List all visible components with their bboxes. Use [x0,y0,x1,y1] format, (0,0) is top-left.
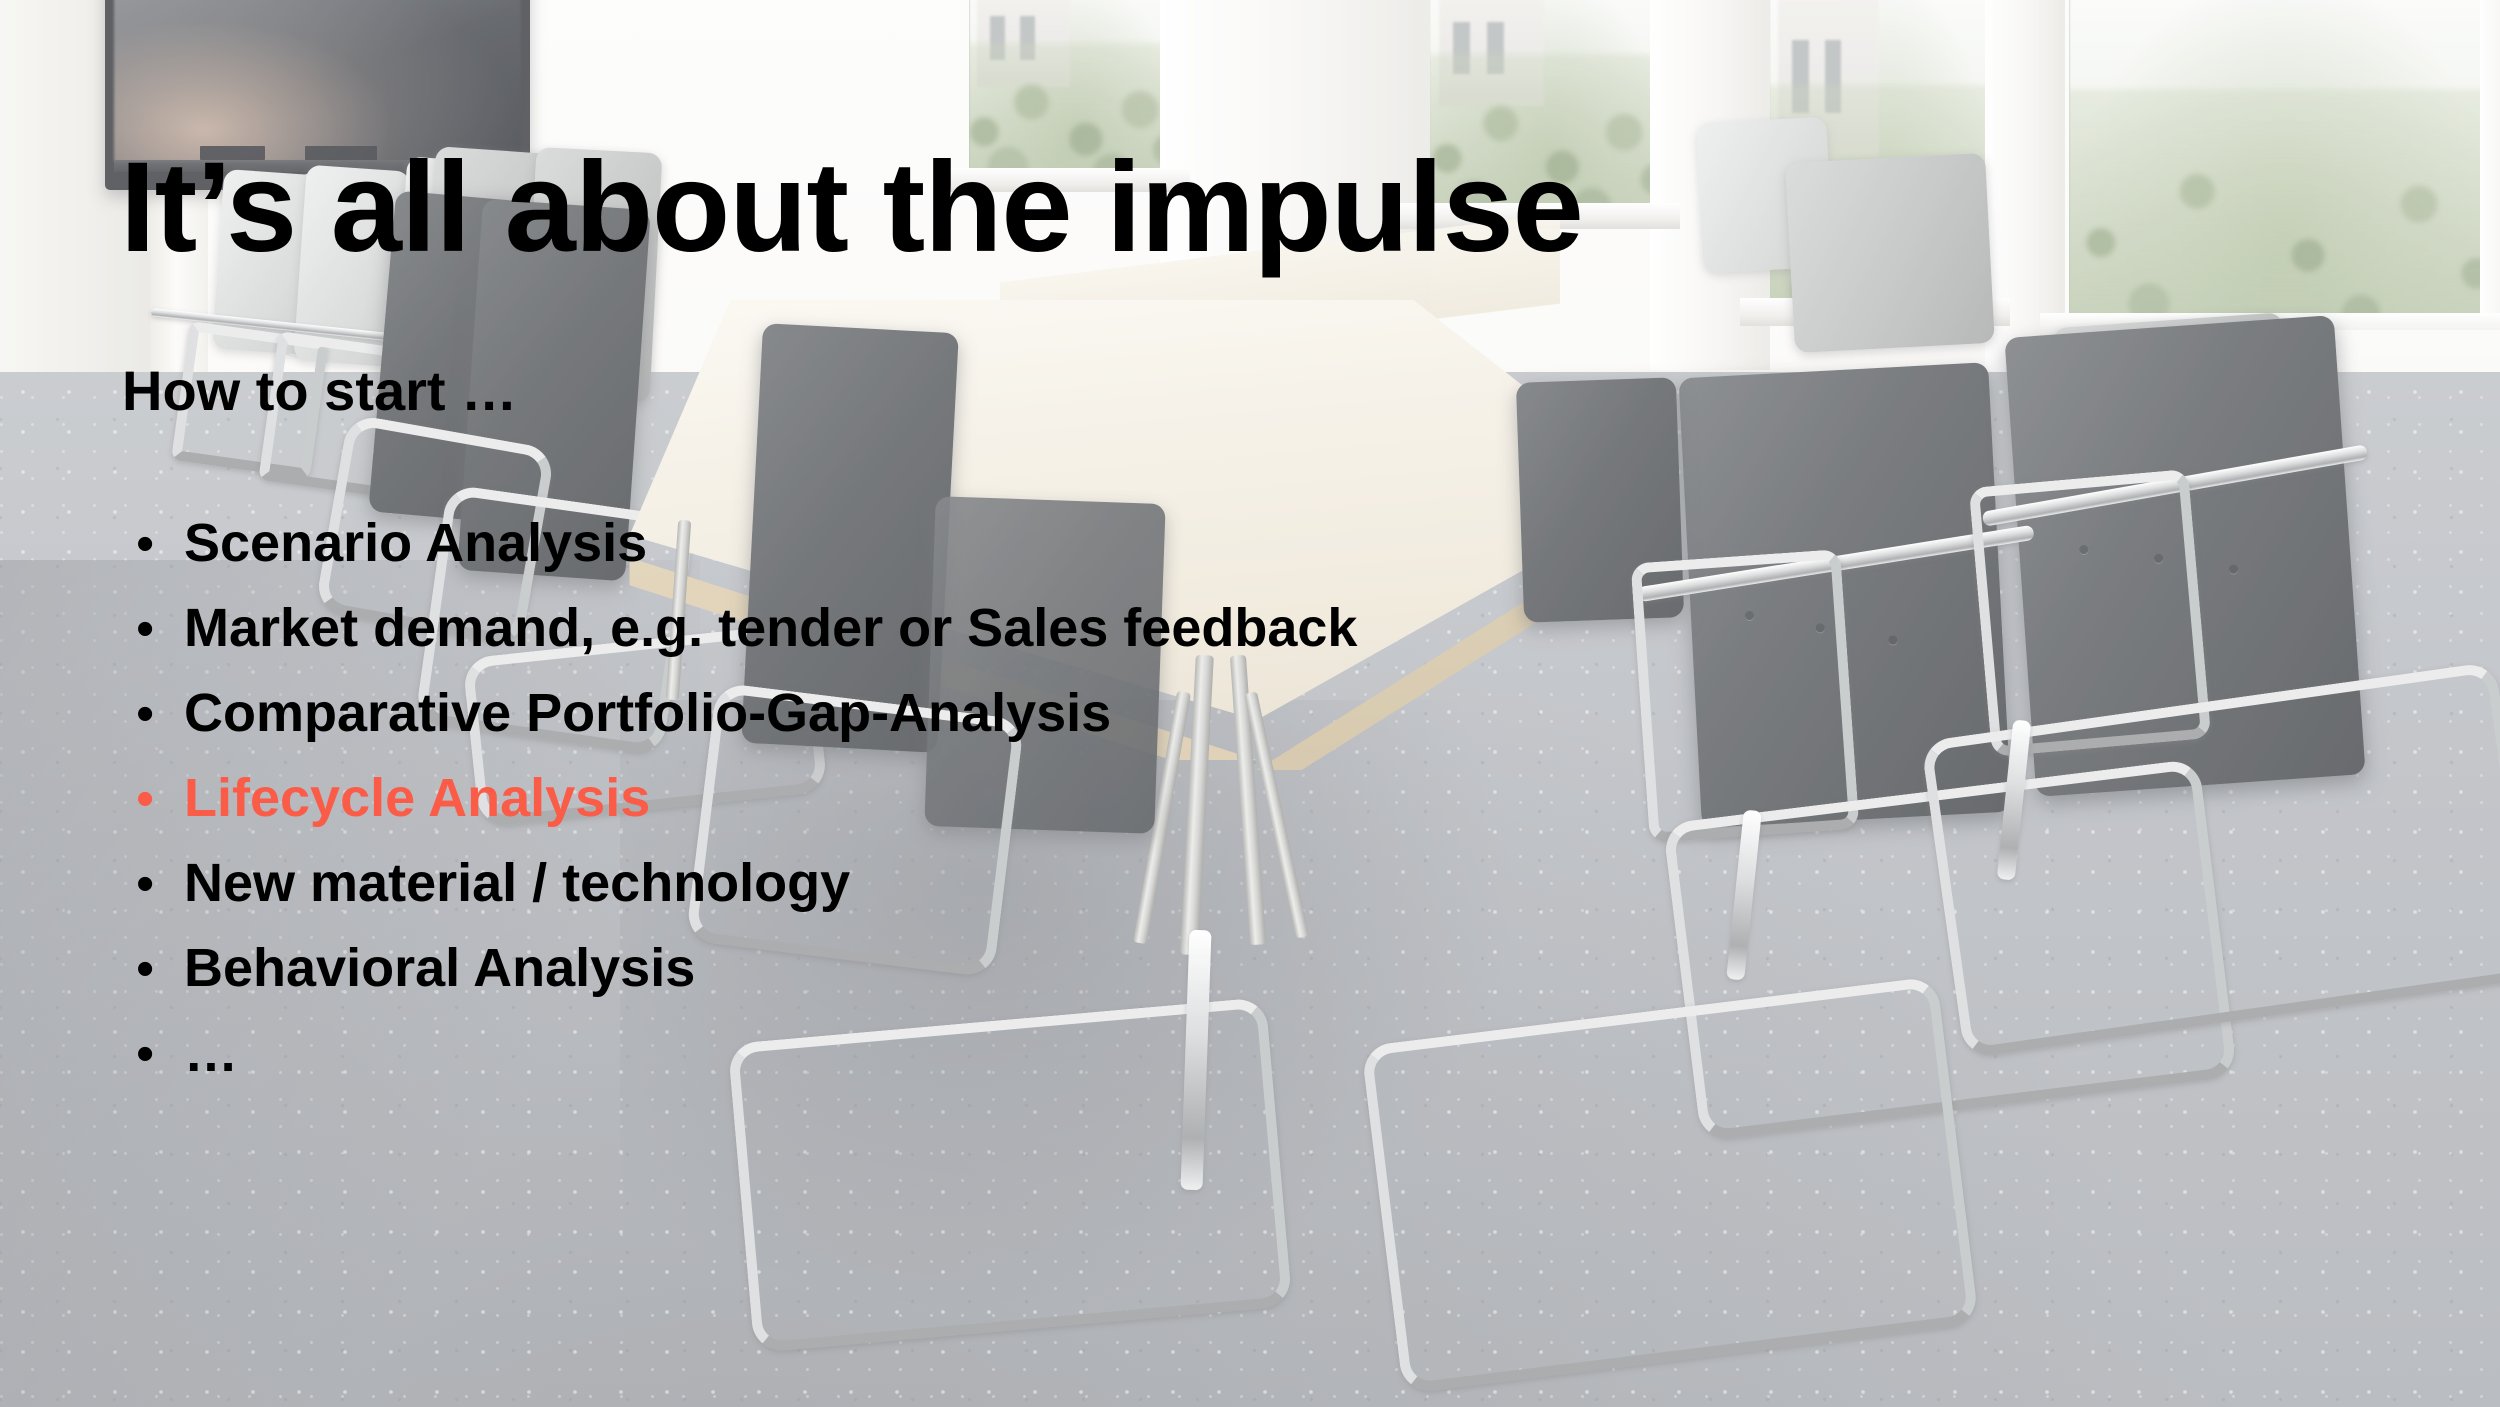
bullet-marker-icon: • [122,518,184,570]
bullet-marker-icon: • [122,773,184,825]
list-item: • Scenario Analysis [122,512,2222,597]
slide-content: It’s all about the impulse How to start … [0,0,2500,1407]
presentation-slide: It’s all about the impulse How to start … [0,0,2500,1407]
bullet-marker-icon: • [122,1028,184,1080]
list-item: • Behavioral Analysis [122,937,2222,1022]
bullet-marker-icon: • [122,858,184,910]
bullet-marker-icon: • [122,603,184,655]
list-item: • Comparative Portfolio-Gap-Analysis [122,682,2222,767]
bullet-marker-icon: • [122,943,184,995]
bullet-list: • Scenario Analysis • Market demand, e.g… [122,512,2222,1107]
list-item: • New material / technology [122,852,2222,937]
bullet-text: Scenario Analysis [184,512,647,574]
list-item-highlighted: • Lifecycle Analysis [122,767,2222,852]
bullet-text: Behavioral Analysis [184,937,695,999]
bullet-text: Market demand, e.g. tender or Sales feed… [184,597,1357,659]
list-item: • … [122,1022,2222,1107]
slide-title: It’s all about the impulse [120,144,1583,272]
slide-subtitle: How to start … [122,358,517,423]
bullet-marker-icon: • [122,688,184,740]
bullet-text: … [184,1022,238,1084]
bullet-text: Lifecycle Analysis [184,767,650,829]
list-item: • Market demand, e.g. tender or Sales fe… [122,597,2222,682]
bullet-text: New material / technology [184,852,850,914]
bullet-text: Comparative Portfolio-Gap-Analysis [184,682,1111,744]
